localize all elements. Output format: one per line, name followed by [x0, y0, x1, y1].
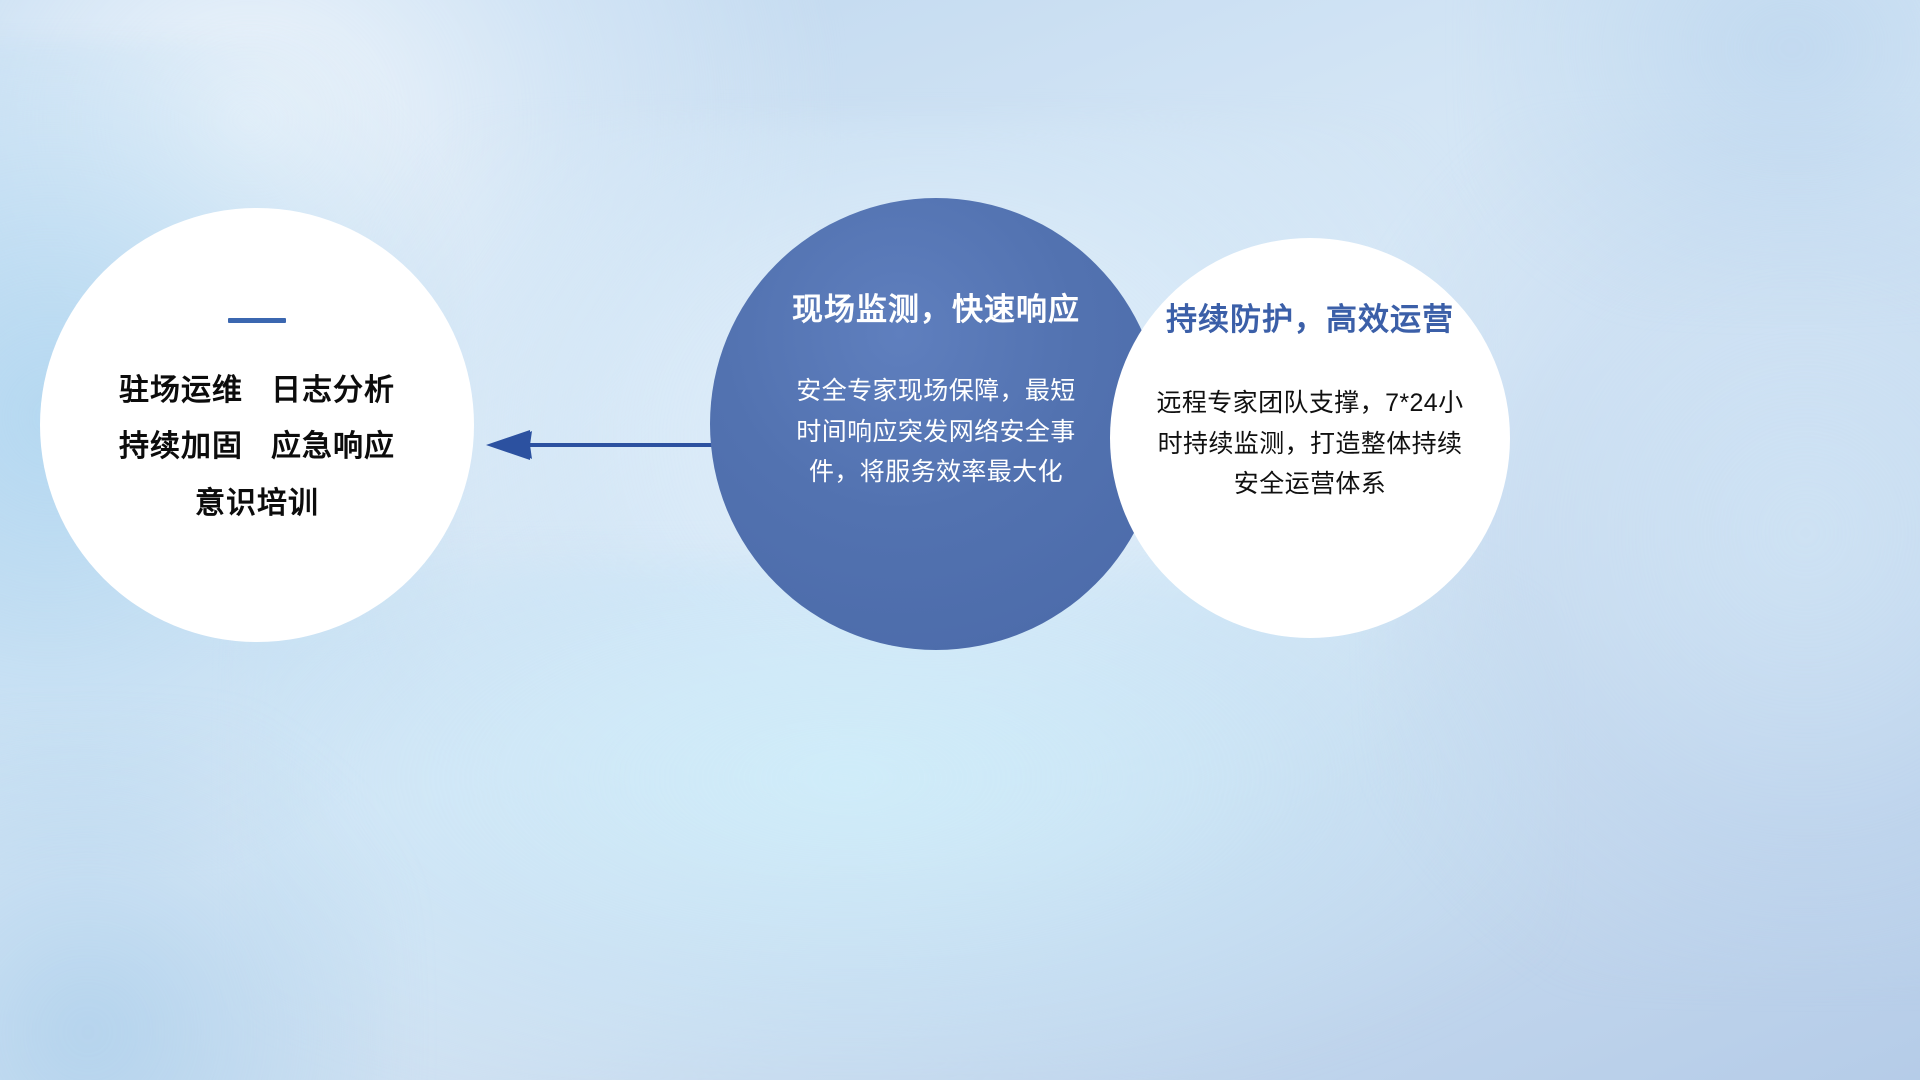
slide-canvas: 驻场运维 日志分析 持续加固 应急响应 意识培训 现场监测，快速响应 安全专家现… [0, 0, 1920, 1080]
background-corner-top-right [1480, 0, 1920, 300]
middle-circle-body: 安全专家现场保障，最短时间响应突发网络安全事件，将服务效率最大化 [786, 371, 1086, 493]
right-circle-title: 持续防护，高效运营 [1166, 294, 1454, 339]
capability-line: 持续加固 应急响应 [119, 419, 395, 475]
capability-circle-left[interactable]: 驻场运维 日志分析 持续加固 应急响应 意识培训 [40, 208, 474, 642]
dash-accent-icon [228, 318, 286, 323]
background-corner-bottom-left [0, 720, 400, 1080]
capability-circle-middle[interactable]: 现场监测，快速响应 安全专家现场保障，最短时间响应突发网络安全事件，将服务效率最… [710, 198, 1162, 650]
capability-line: 意识培训 [119, 476, 395, 532]
middle-circle-title: 现场监测，快速响应 [792, 284, 1080, 329]
capability-circle-right[interactable]: 持续防护，高效运营 远程专家团队支撑，7*24小时持续监测，打造整体持续安全运营… [1110, 238, 1510, 638]
capability-list: 驻场运维 日志分析 持续加固 应急响应 意识培训 [119, 363, 395, 532]
capability-line: 驻场运维 日志分析 [119, 363, 395, 419]
right-circle-body: 远程专家团队支撑，7*24小时持续监测，打造整体持续安全运营体系 [1145, 383, 1475, 505]
